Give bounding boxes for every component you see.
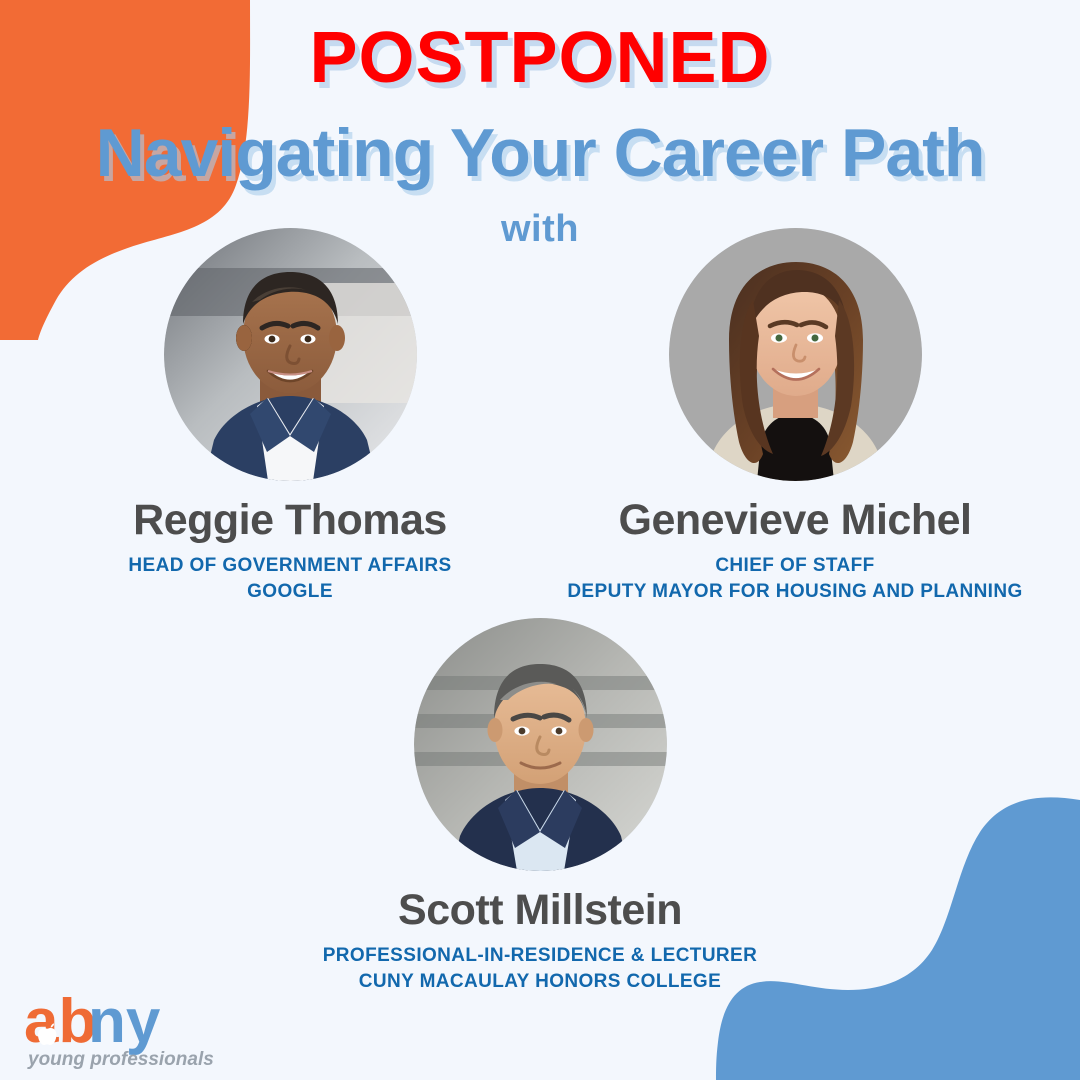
logo-mark-ny-text: ny: [88, 987, 161, 1056]
speaker-role: HEAD OF GOVERNMENT AFFAIRS GOOGLE: [40, 553, 540, 604]
logo-mark-ab-text: ab: [24, 987, 96, 1056]
logo-tagline: young professionals: [27, 1049, 214, 1070]
postponed-banner: POSTPONED: [0, 22, 1080, 94]
speaker-name: Genevieve Michel: [545, 497, 1045, 544]
speaker-card-genevieve-michel: Genevieve Michel CHIEF OF STAFF DEPUTY M…: [545, 228, 1045, 605]
speaker-role-line-2: DEPUTY MAYOR FOR HOUSING AND PLANNING: [545, 579, 1045, 605]
speaker-role-line-2: GOOGLE: [40, 579, 540, 605]
speaker-role-line-1: HEAD OF GOVERNMENT AFFAIRS: [40, 553, 540, 579]
speaker-name: Reggie Thomas: [40, 497, 540, 544]
speaker-role: PROFESSIONAL-IN-RESIDENCE & LECTURER CUN…: [290, 943, 790, 994]
avatar-genevieve-michel: [669, 228, 922, 481]
speaker-role: CHIEF OF STAFF DEPUTY MAYOR FOR HOUSING …: [545, 553, 1045, 604]
speaker-name: Scott Millstein: [290, 887, 790, 934]
speaker-card-scott-millstein: Scott Millstein PROFESSIONAL-IN-RESIDENC…: [290, 618, 790, 995]
speaker-card-reggie-thomas: Reggie Thomas HEAD OF GOVERNMENT AFFAIRS…: [40, 228, 540, 605]
speaker-role-line-2: CUNY MACAULAY HONORS COLLEGE: [290, 969, 790, 995]
avatar-reggie-thomas: [164, 228, 417, 481]
abny-logo: ab ny young professionals: [22, 980, 232, 1072]
avatar-scott-millstein: [414, 618, 667, 871]
event-poster: POSTPONED Navigating Your Career Path wi…: [0, 0, 1080, 1080]
speaker-role-line-1: CHIEF OF STAFF: [545, 553, 1045, 579]
page-title: Navigating Your Career Path: [0, 118, 1080, 189]
speaker-role-line-1: PROFESSIONAL-IN-RESIDENCE & LECTURER: [290, 943, 790, 969]
